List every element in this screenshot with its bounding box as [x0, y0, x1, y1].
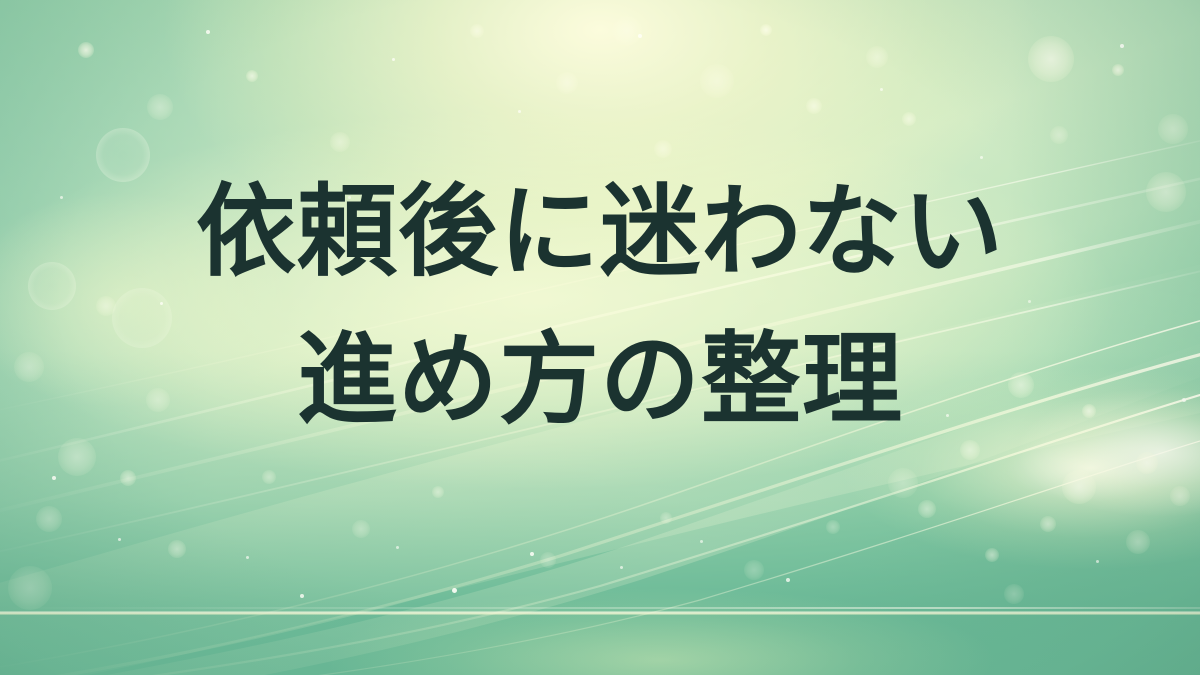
title-card: 依頼後に迷わない 進め方の整理	[0, 0, 1200, 675]
horizon-light-line	[0, 611, 1200, 615]
horizon-light-line-soft	[0, 607, 1200, 609]
title-line-1: 依頼後に迷わない	[0, 158, 1200, 306]
page-title: 依頼後に迷わない 進め方の整理	[0, 158, 1200, 454]
title-line-2: 進め方の整理	[0, 306, 1200, 454]
